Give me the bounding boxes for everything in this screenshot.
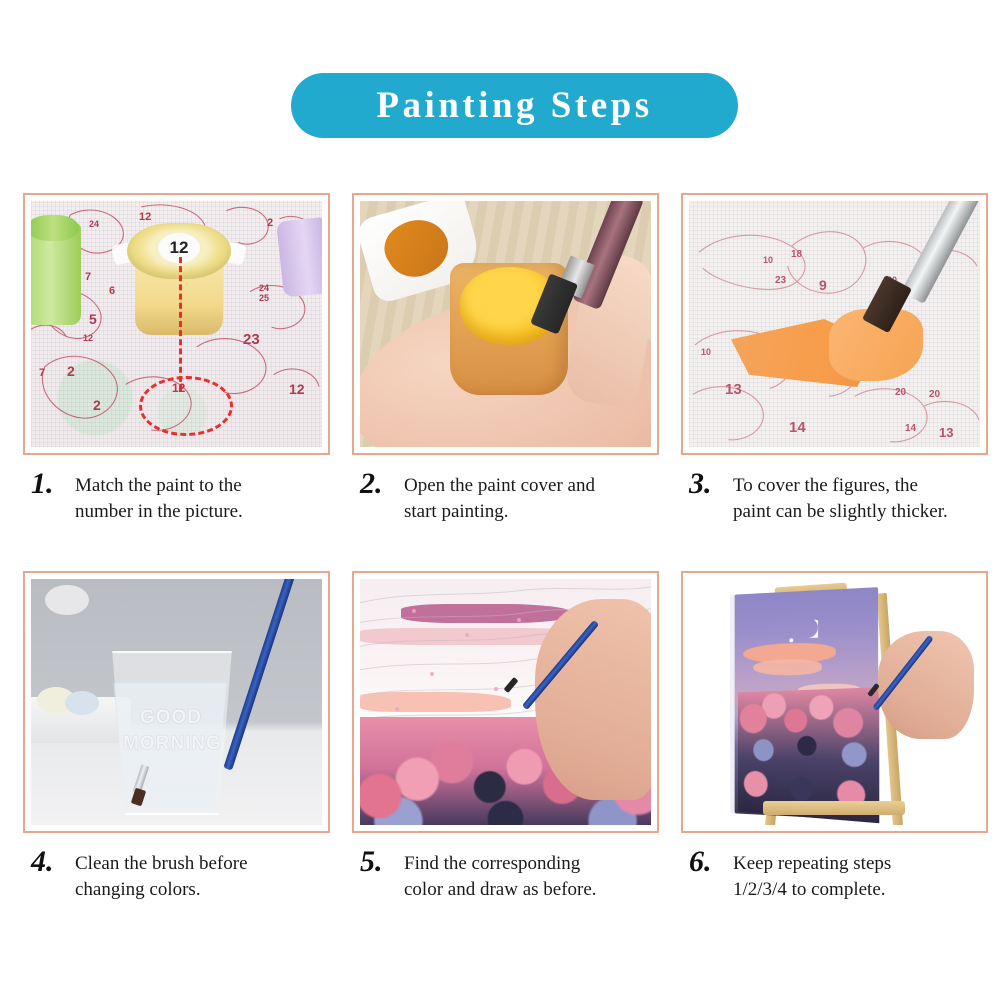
purple-paint-pot	[276, 216, 322, 297]
green-paint-pot	[31, 223, 81, 325]
star-icon	[790, 639, 794, 643]
color-dot	[395, 707, 399, 711]
red-dashed-pointer-line	[179, 257, 182, 391]
painting-steps-grid: 12 24 2 7 6 5 12 2 7 2 23 24 25 12	[23, 193, 988, 903]
step-text-line-1: Find the corresponding	[404, 853, 580, 874]
step-photo-frame-4: GOOD MORNING	[23, 571, 330, 833]
red-dashed-highlight-ellipse	[139, 376, 233, 436]
step-photo-frame-5	[352, 571, 659, 833]
canvas-number: 7	[85, 271, 91, 283]
step-text-line-2: changing colors.	[75, 879, 201, 900]
step-text-4: Clean the brush before changing colors.	[75, 847, 248, 903]
step-caption-6: 6. Keep repeating steps 1/2/3/4 to compl…	[681, 847, 988, 903]
canvas-number: 12	[83, 333, 93, 343]
step-text-3: To cover the figures, the paint can be s…	[733, 469, 948, 525]
step-caption-3: 3. To cover the figures, the paint can b…	[681, 469, 988, 525]
step-text-line-1: Clean the brush before	[75, 853, 248, 874]
canvas-number: 12	[139, 211, 151, 223]
step-text-line-1: Open the paint cover and	[404, 475, 595, 496]
color-dot	[465, 633, 469, 637]
canvas-number: 13	[939, 425, 953, 440]
step-card-4: GOOD MORNING 4. Clean the brush before c…	[23, 571, 330, 903]
highlighted-canvas-number: 12	[172, 381, 185, 395]
step-text-line-1: Keep repeating steps	[733, 853, 891, 874]
step-text-line-2: number in the picture.	[75, 501, 243, 522]
canvas-number: 25	[259, 293, 269, 303]
step-number-2: 2.	[360, 469, 394, 499]
canvas-number: 20	[895, 387, 906, 398]
canvas-number: 13	[725, 381, 742, 398]
step-photo-frame-3: 10 18 23 9 20 20 13 14 20 10 20 13 14	[681, 193, 988, 455]
canvas-number: 10	[701, 347, 711, 357]
canvas-number: 14	[905, 423, 916, 434]
canvas-number: 6	[109, 285, 115, 297]
step-text-1: Match the paint to the number in the pic…	[75, 469, 243, 525]
step-card-5: 5. Find the corresponding color and draw…	[352, 571, 659, 903]
step-caption-2: 2. Open the paint cover and start painti…	[352, 469, 659, 525]
canvas-number: 23	[775, 275, 786, 286]
glass-text-line-1: GOOD	[140, 707, 202, 728]
step-number-4: 4.	[31, 847, 65, 877]
step-text-5: Find the corresponding color and draw as…	[404, 847, 597, 903]
step-card-6: 6. Keep repeating steps 1/2/3/4 to compl…	[681, 571, 988, 903]
step-photo-frame-6	[681, 571, 988, 833]
step-card-3: 10 18 23 9 20 20 13 14 20 10 20 13 14 3.	[681, 193, 988, 525]
step-card-1: 12 24 2 7 6 5 12 2 7 2 23 24 25 12	[23, 193, 330, 525]
step-text-line-2: paint can be slightly thicker.	[733, 501, 948, 522]
step-photo-5	[360, 579, 651, 825]
step-text-line-2: start painting.	[404, 501, 508, 522]
lid-paint-residue	[376, 208, 458, 288]
step-caption-5: 5. Find the corresponding color and draw…	[352, 847, 659, 903]
canvas-number: 2	[93, 397, 101, 413]
step-number-5: 5.	[360, 847, 394, 877]
canvas-number: 7	[39, 367, 45, 379]
step-caption-1: 1. Match the paint to the number in the …	[23, 469, 330, 525]
canvas-number: 2	[67, 363, 75, 379]
canvas-number: 24	[89, 219, 99, 229]
color-dot	[412, 609, 416, 613]
step-text-line-2: color and draw as before.	[404, 879, 597, 900]
crescent-moon-icon	[798, 618, 818, 639]
page-title-banner: Painting Steps	[291, 73, 738, 138]
canvas-number: 10	[763, 255, 773, 265]
glass-text-line-2: MORNING	[123, 733, 222, 754]
step-number-1: 1.	[31, 469, 65, 499]
step-number-3: 3.	[689, 469, 723, 499]
step-photo-2	[360, 201, 651, 447]
step-photo-6	[689, 579, 980, 825]
easel-tray	[763, 801, 905, 815]
step-text-6: Keep repeating steps 1/2/3/4 to complete…	[733, 847, 891, 903]
step-photo-3: 10 18 23 9 20 20 13 14 20 10 20 13 14	[689, 201, 980, 447]
step-text-line-1: Match the paint to the	[75, 475, 242, 496]
canvas-number: 23	[243, 331, 260, 348]
canvas-number: 18	[791, 249, 802, 260]
step-photo-frame-1: 12 24 2 7 6 5 12 2 7 2 23 24 25 12	[23, 193, 330, 455]
tray-item-right	[65, 691, 99, 715]
step-text-2: Open the paint cover and start painting.	[404, 469, 595, 525]
step-text-line-1: To cover the figures, the	[733, 475, 918, 496]
step-photo-1: 12 24 2 7 6 5 12 2 7 2 23 24 25 12	[31, 201, 322, 447]
step-caption-4: 4. Clean the brush before changing color…	[23, 847, 330, 903]
step-text-line-2: 1/2/3/4 to complete.	[733, 879, 886, 900]
finished-painting-canvas	[735, 587, 878, 821]
canvas-number: 24	[259, 283, 269, 293]
page-title: Painting Steps	[376, 87, 652, 124]
step-number-6: 6.	[689, 847, 723, 877]
canvas-number: 14	[789, 419, 806, 436]
sunset-cloud	[754, 658, 822, 675]
step-photo-4: GOOD MORNING	[31, 579, 322, 825]
step-photo-frame-2	[352, 193, 659, 455]
canvas-number: 12	[289, 381, 305, 397]
glass-printed-text: GOOD MORNING	[123, 705, 219, 757]
canvas-number: 5	[89, 311, 97, 327]
canvas-number: 9	[819, 277, 827, 293]
background-object	[45, 585, 89, 615]
canvas-number: 2	[267, 217, 273, 229]
step-card-2: 2. Open the paint cover and start painti…	[352, 193, 659, 525]
canvas-number: 20	[929, 389, 940, 400]
